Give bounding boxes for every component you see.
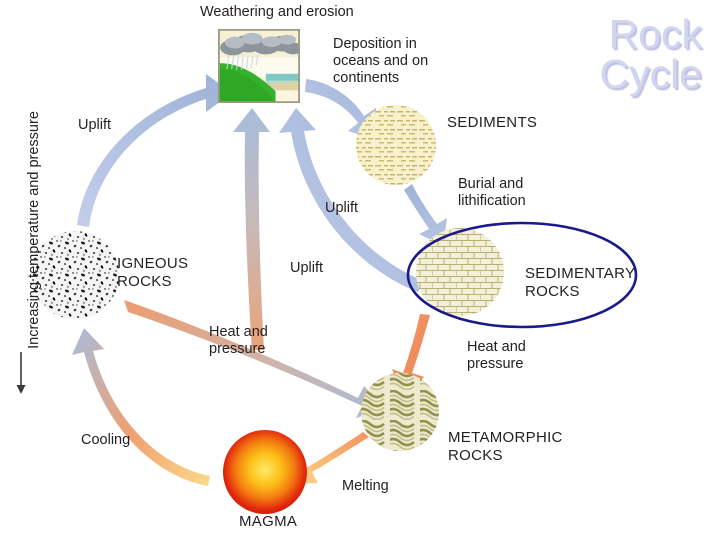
title-line-1: Rock — [599, 14, 702, 54]
label-heat-pressure-2-line-2: pressure — [467, 356, 526, 373]
label-burial-line-2: lithification — [458, 193, 526, 210]
label-igneous-line-1: IGNEOUS — [117, 255, 188, 273]
label-sedimentary-line-2: ROCKS — [525, 283, 635, 301]
axis-arrow — [17, 352, 26, 394]
label-deposition-line-2: oceans and on — [333, 53, 428, 70]
label-uplift-lower: Uplift — [290, 260, 323, 277]
label-magma: MAGMA — [239, 513, 297, 531]
label-metamorphic-rocks: METAMORPHIC ROCKS — [448, 429, 563, 464]
node-metamorphic-rocks — [359, 371, 443, 455]
label-heat-pressure-igneous: Heat and pressure — [209, 324, 268, 358]
label-melting: Melting — [342, 478, 389, 495]
rock-cycle-diagram: Rock Cycle Increasing temperature and pr… — [0, 0, 720, 540]
label-sediments: SEDIMENTS — [447, 114, 537, 132]
axis-label-temperature-pressure: Increasing temperature and pressure — [26, 100, 42, 360]
label-deposition-line-1: Deposition in — [333, 36, 428, 53]
label-heat-pressure-1-line-2: pressure — [209, 341, 268, 358]
label-deposition: Deposition in oceans and on continents — [333, 36, 428, 87]
label-heat-pressure-sedimentary: Heat and pressure — [467, 339, 526, 373]
label-metamorphic-line-1: METAMORPHIC — [448, 429, 563, 447]
label-burial-lithification: Burial and lithification — [458, 176, 526, 210]
arrow-uplift-igneous-to-weathering — [77, 74, 232, 227]
label-uplift-igneous: Uplift — [78, 117, 111, 134]
node-igneous-rocks — [29, 229, 121, 321]
label-metamorphic-line-2: ROCKS — [448, 447, 563, 465]
label-deposition-line-3: continents — [333, 70, 428, 87]
title-line-2: Cycle — [599, 54, 702, 94]
label-cooling: Cooling — [81, 432, 130, 449]
label-heat-pressure-2-line-1: Heat and — [467, 339, 526, 356]
label-weathering-and-erosion: Weathering and erosion — [200, 4, 354, 21]
weathering-erosion-illustration — [218, 29, 300, 103]
arrow-uplift-left-riser — [233, 108, 270, 350]
label-heat-pressure-1-line-1: Heat and — [209, 324, 268, 341]
label-igneous-line-2: ROCKS — [117, 273, 188, 291]
arrow-cooling — [72, 328, 210, 486]
label-igneous-rocks: IGNEOUS ROCKS — [117, 255, 188, 290]
label-uplift-upper: Uplift — [325, 200, 358, 217]
label-sedimentary-rocks: SEDIMENTARY ROCKS — [525, 265, 635, 300]
label-burial-line-1: Burial and — [458, 176, 526, 193]
label-sedimentary-line-1: SEDIMENTARY — [525, 265, 635, 283]
node-magma — [223, 430, 307, 514]
page-title: Rock Cycle — [599, 14, 702, 94]
